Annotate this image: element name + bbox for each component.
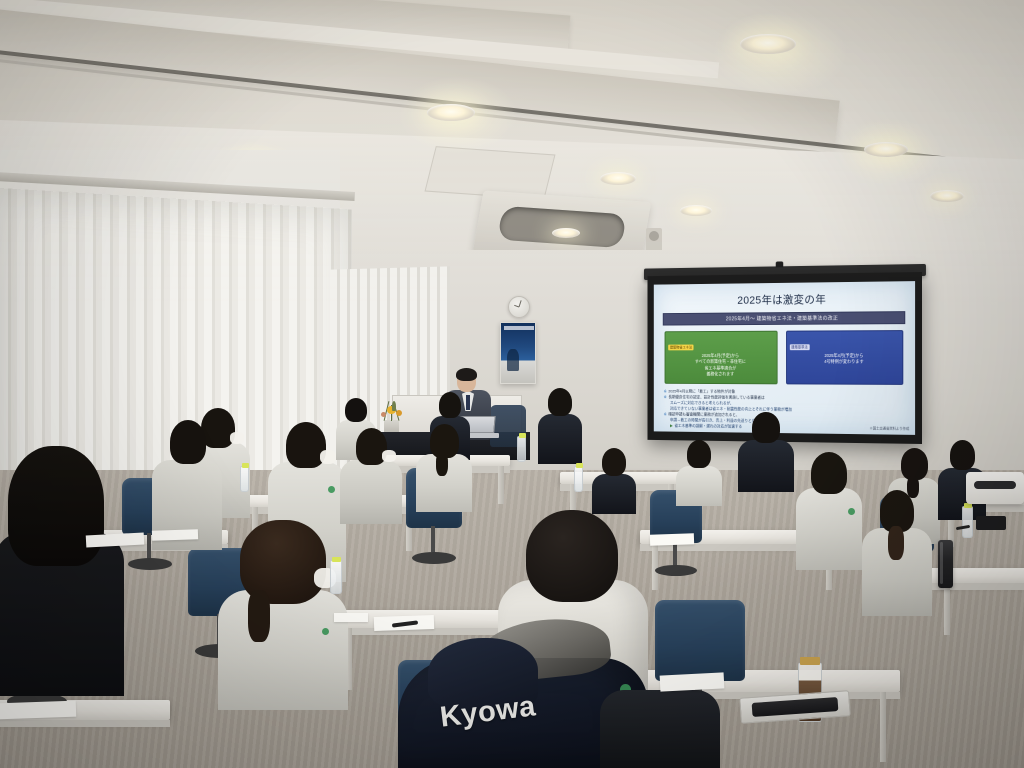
downlight-icon — [600, 172, 636, 185]
slide-box-blue-line2: 4号特例が変わります — [789, 359, 899, 365]
downlight-icon — [680, 205, 712, 216]
slide-box-green-tag: 建築物省エネ法 — [668, 344, 694, 350]
uniform-logo-icon — [322, 628, 329, 635]
chair-post — [673, 542, 677, 566]
slide-subtitle-bar: 2025年4月〜 建築物省エネ法・建築基準法の改正 — [663, 311, 905, 325]
attendee-hair — [345, 398, 367, 422]
flower-bloom — [396, 410, 402, 416]
slide-callout-boxes: 建築物省エネ法 2025年4月(予定)から すべての新築住宅・非住宅に 省エネ基… — [665, 330, 904, 385]
wall-poster — [500, 322, 536, 384]
desk-leg — [498, 466, 504, 504]
downlight-icon — [930, 190, 964, 202]
attendee — [538, 388, 582, 464]
wall-clock-icon — [508, 296, 530, 318]
water-bottle[interactable] — [574, 466, 583, 492]
flower-bloom — [381, 412, 386, 417]
attendee — [862, 490, 932, 616]
attendee-ponytail — [248, 590, 270, 642]
attendee-suit — [592, 474, 636, 514]
handout-paper — [660, 672, 725, 691]
face-mask — [382, 450, 396, 462]
attendee-ponytail — [888, 526, 904, 560]
chair-post — [147, 533, 151, 559]
slide-box-blue-tag: 建築基準法 — [789, 344, 809, 350]
chair-legs — [412, 552, 457, 564]
water-bottle[interactable] — [330, 560, 342, 594]
bottle-cap — [242, 463, 249, 468]
handout-paper — [152, 529, 198, 541]
attendee — [738, 412, 794, 492]
water-bottle[interactable] — [517, 436, 526, 462]
handout-paper — [650, 533, 694, 546]
slide-box-green-line4: 義務化されます — [668, 372, 773, 379]
water-bottle[interactable] — [962, 506, 973, 538]
downlight-icon — [740, 34, 796, 54]
equipment-bag[interactable] — [966, 472, 1024, 504]
chair-post — [431, 526, 435, 553]
attendee-foreground — [0, 446, 124, 696]
attendee — [676, 440, 722, 506]
attendee-uniform — [796, 488, 862, 570]
attendee — [340, 428, 402, 524]
attendee-uniform — [340, 460, 402, 524]
chair-back — [655, 600, 745, 681]
face-mask — [320, 450, 336, 464]
attendee — [416, 424, 472, 512]
attendee-hair — [8, 446, 104, 566]
attendee-suit — [738, 440, 794, 492]
water-bottle[interactable] — [240, 466, 249, 492]
attendee-suit — [538, 414, 582, 464]
chair-legs — [128, 558, 173, 570]
attendee — [796, 452, 862, 570]
bullet-marker-icon: ※ — [664, 394, 667, 400]
chair-legs — [655, 565, 697, 576]
attendee-hair — [687, 440, 711, 468]
slide-box-blue: 建築基準法 2025年4月(予定)から 4号特例が変わります — [786, 330, 904, 385]
attendee-uniform — [676, 466, 722, 506]
thermos-tumbler[interactable] — [938, 540, 953, 588]
handout-paper — [334, 613, 368, 622]
slide-credit: ※国土交通省資料より作成 — [870, 425, 910, 430]
attendee-hair — [439, 392, 461, 418]
bottle-cap — [519, 433, 526, 438]
handout-paper — [0, 701, 76, 720]
bottle-cap — [576, 463, 583, 468]
attendee-hair — [526, 510, 618, 602]
attendee-hair — [950, 440, 975, 470]
seminar-room-photo: 2025年は激変の年 2025年4月〜 建築物省エネ法・建築基準法の改正 建築物… — [0, 0, 1024, 768]
flower-leaf — [392, 401, 396, 411]
arrow-right-icon: ▶ — [670, 423, 673, 429]
attendee-hair — [548, 388, 572, 416]
face-mask — [230, 432, 244, 444]
attendee — [592, 448, 636, 514]
downlight-icon — [552, 228, 580, 238]
attendee-hair — [602, 448, 626, 476]
smartphone[interactable] — [976, 516, 1006, 530]
attendee-hair — [170, 420, 206, 464]
slide-title: 2025年は激変の年 — [654, 290, 915, 308]
attendee-ponytail — [436, 452, 448, 476]
desk-leg — [944, 583, 950, 635]
uniform-logo-icon — [848, 508, 855, 515]
attendee-top — [600, 690, 720, 768]
downlight-icon — [864, 142, 908, 157]
desk-leg — [880, 692, 886, 762]
bullet-marker-icon: ※ — [664, 411, 667, 417]
attendee-hair — [811, 452, 847, 494]
attendee — [600, 690, 720, 768]
slide-box-green: 建築物省エネ法 2025年4月(予定)から すべての新築住宅・非住宅に 省エネ基… — [665, 331, 778, 384]
bottle-cap — [332, 557, 341, 562]
bottle-cap — [800, 657, 820, 665]
presenter-hair — [456, 368, 477, 381]
attendee-foreground — [218, 520, 348, 710]
attendee-hair — [752, 412, 780, 443]
downlight-icon — [427, 104, 475, 121]
uniform-logo-icon — [328, 486, 335, 493]
attendee-uniform — [218, 590, 348, 710]
